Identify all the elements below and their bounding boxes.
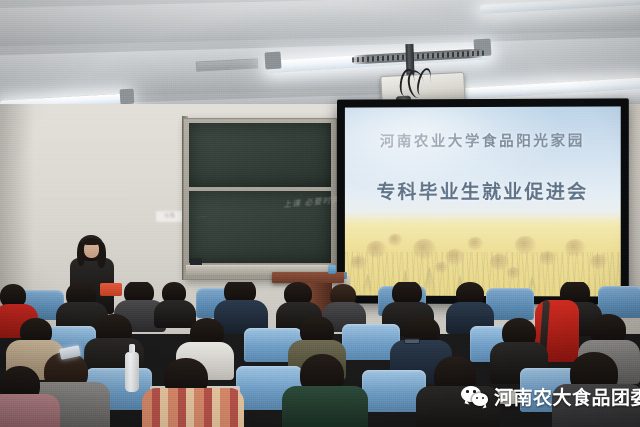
blackboard-chalk-smudge: ~~~: [196, 215, 207, 222]
wechat-logo-icon: [461, 386, 488, 407]
wall-notice: 公告: [156, 211, 184, 222]
water-bottle: [125, 352, 139, 392]
projection-screen: 河南农业大学食品阳光家园 专科毕业生就业促进会 2017年12月28日: [345, 106, 621, 296]
audience-body: [154, 300, 196, 328]
eyeglasses-icon: [404, 338, 420, 344]
screen-glare: [345, 106, 510, 192]
audience-body: [282, 386, 368, 427]
light-bracket: [264, 52, 281, 70]
light-bracket: [120, 89, 135, 105]
audience-body: [0, 394, 60, 427]
blackboard-upper-panel: [189, 123, 331, 187]
watermark-text: 河南农大食品团委: [494, 383, 640, 410]
podium-item: [328, 265, 336, 274]
projector-cables: [395, 67, 441, 99]
audience-body: [142, 388, 244, 427]
projection-screen-frame: 河南农业大学食品阳光家园 专科毕业生就业促进会 2017年12月28日: [337, 98, 629, 304]
watermark: 河南农大食品团委: [461, 383, 640, 410]
lecture-hall-photo: 公告 上课 必要时再听课 ~~~ 河南农业大学食品阳光家园 专科毕业生就业促进会…: [0, 0, 640, 427]
speaker-fringe: [83, 238, 100, 245]
